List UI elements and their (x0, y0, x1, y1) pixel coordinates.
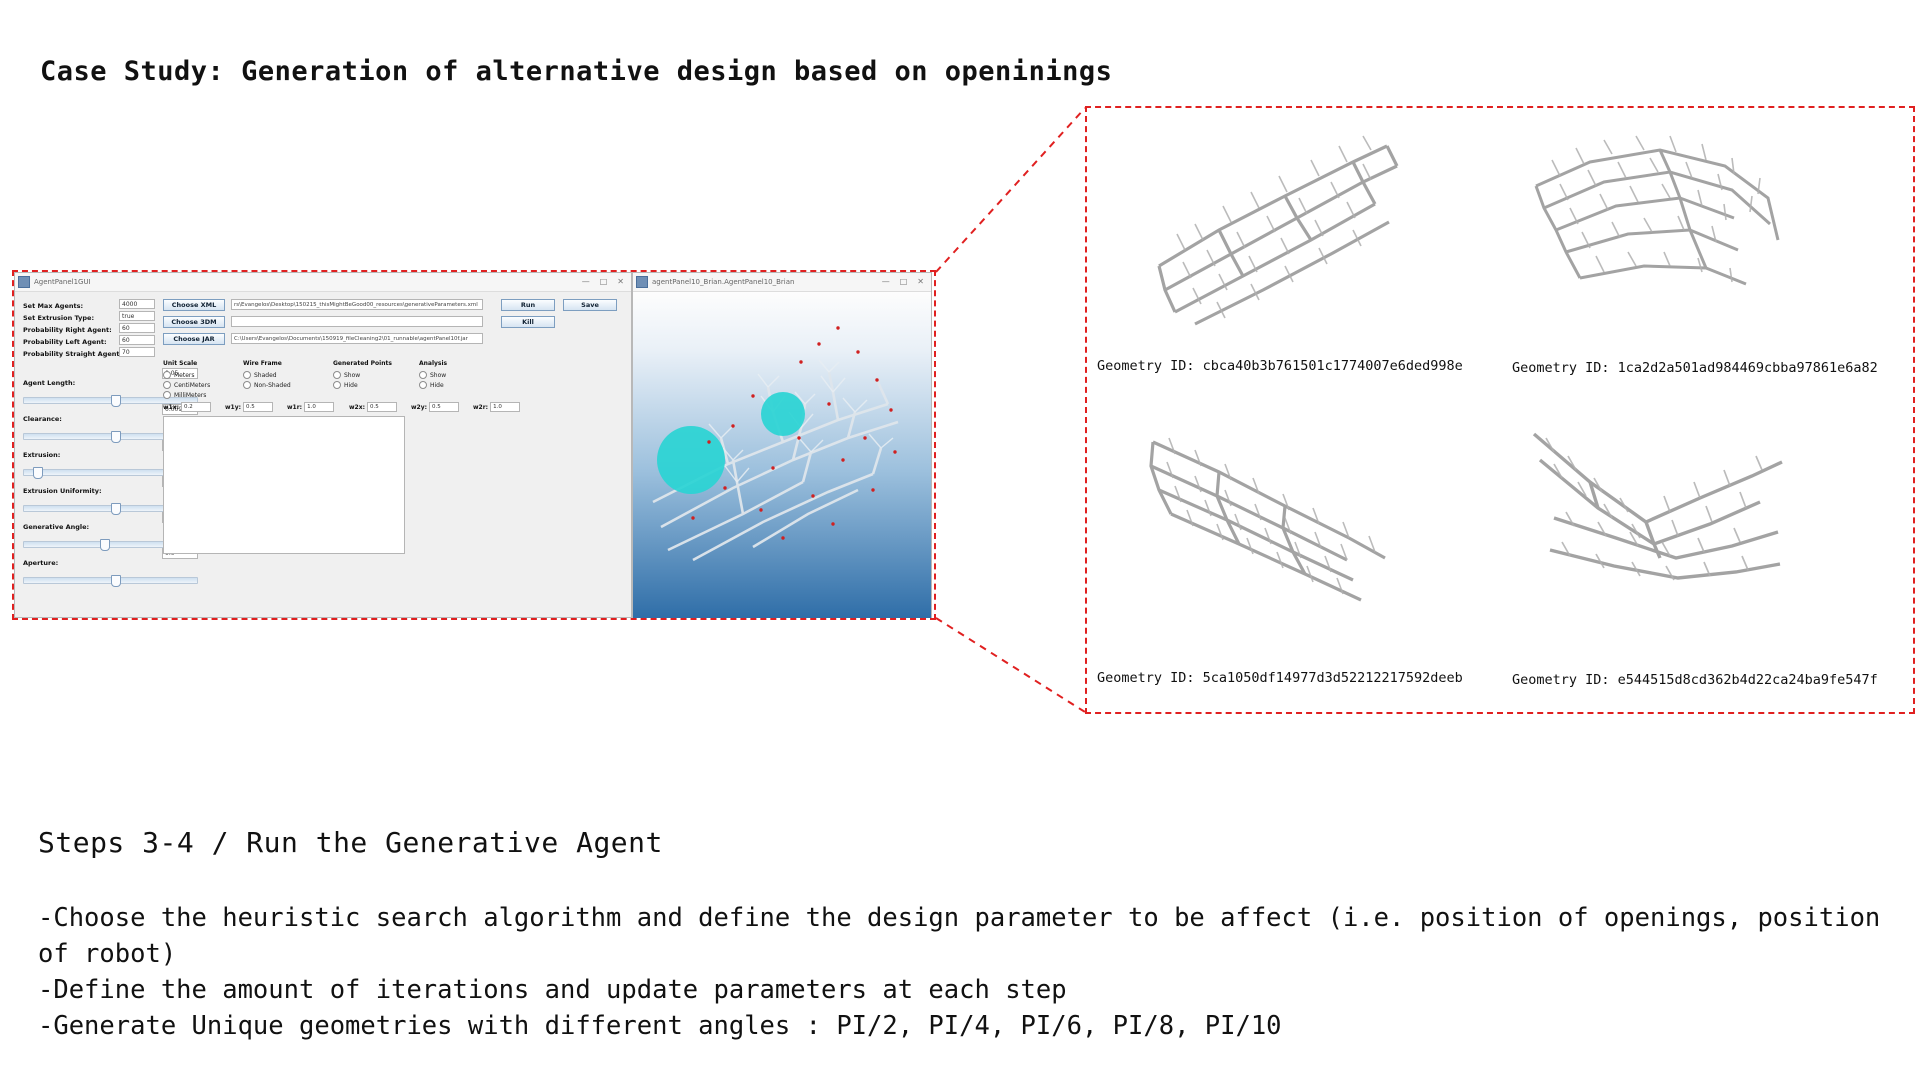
radio-label: Hide (430, 382, 444, 389)
geometry-render-4 (1520, 400, 1820, 630)
geometry-caption-3: Geometry ID: 5ca1050df14977d3d5221221759… (1097, 670, 1463, 686)
radio-label: Show (344, 372, 360, 379)
w1x-input[interactable]: 0.2 (181, 402, 211, 412)
radio-option-points-hide[interactable]: Hide (333, 380, 392, 390)
steps-line: -Define the amount of iterations and upd… (38, 972, 1898, 1008)
radio-group-wire-frame: Wire Frame Shaded Non-Shaded (243, 360, 291, 390)
geometry-render-1 (1135, 118, 1435, 338)
radio-icon[interactable] (333, 371, 341, 379)
slider-label: Extrusion: (23, 451, 60, 459)
radio-option-points-show[interactable]: Show (333, 370, 392, 380)
extrusion-type-input[interactable]: true (119, 311, 155, 321)
radio-label: Hide (344, 382, 358, 389)
w1r-label: w1r: (287, 404, 302, 411)
geometry-caption-2: Geometry ID: 1ca2d2a501ad984469cbba97861… (1512, 360, 1878, 376)
page-title: Case Study: Generation of alternative de… (40, 56, 1112, 87)
radio-icon[interactable] (243, 381, 251, 389)
radio-icon[interactable] (419, 381, 427, 389)
w2r-label: w2r: (473, 404, 488, 411)
param-label: Probability Left Agent: (23, 338, 107, 346)
w2x-field[interactable]: w2x:0.5 (349, 402, 397, 412)
radio-icon[interactable] (163, 371, 171, 379)
geometry-thumbnail-3[interactable] (1135, 410, 1435, 630)
minimize-icon[interactable]: — (582, 278, 590, 286)
probability-left-input[interactable]: 60 (119, 335, 155, 345)
w2r-field[interactable]: w2r:1.0 (473, 402, 520, 412)
app-icon (18, 276, 30, 288)
w1x-label: w1x: (163, 404, 179, 411)
radio-option-analysis-show[interactable]: Show (419, 370, 447, 380)
radio-option-analysis-hide[interactable]: Hide (419, 380, 447, 390)
radio-group-analysis: Analysis Show Hide (419, 360, 447, 390)
group-title: Unit Scale (163, 360, 210, 367)
slide-root: Case Study: Generation of alternative de… (0, 0, 1920, 1080)
radio-icon[interactable] (243, 371, 251, 379)
w2x-input[interactable]: 0.5 (367, 402, 397, 412)
geometry-caption-1: Geometry ID: cbca40b3b761501c1774007e6de… (1097, 358, 1463, 374)
slider-label: Extrusion Uniformity: (23, 487, 102, 495)
slider-label: Generative Angle: (23, 523, 89, 531)
w1y-label: w1y: (225, 404, 241, 411)
choose-xml-button[interactable]: Choose XML (163, 299, 225, 311)
param-label: Probability Straight Agent: (23, 350, 122, 358)
param-label: Set Extrusion Type: (23, 314, 94, 322)
geometry-thumbnail-1[interactable] (1135, 118, 1435, 338)
steps-line: -Generate Unique geometries with differe… (38, 1008, 1898, 1044)
radio-group-generated-points: Generated Points Show Hide (333, 360, 392, 390)
maximize-icon[interactable]: □ (600, 278, 608, 286)
geometry-render-3 (1135, 410, 1435, 630)
steps-heading: Steps 3-4 / Run the Generative Agent (38, 826, 663, 859)
agent-panel-window[interactable]: AgentPanel1GUI — □ ✕ Set Max Agents: Set… (14, 272, 632, 618)
gui-window-title: AgentPanel1GUI (34, 278, 91, 286)
radio-label: MilliMeters (174, 392, 206, 399)
steps-body: -Choose the heuristic search algorithm a… (38, 900, 1898, 1044)
group-title: Analysis (419, 360, 447, 367)
slider-label: Agent Length: (23, 379, 75, 387)
close-icon[interactable]: ✕ (617, 278, 624, 286)
w2y-input[interactable]: 0.5 (429, 402, 459, 412)
close-icon[interactable]: ✕ (917, 278, 924, 286)
dm3-path-input[interactable] (231, 316, 483, 327)
w1r-input[interactable]: 1.0 (304, 402, 334, 412)
radio-label: CentiMeters (174, 382, 210, 389)
slider-knob[interactable] (111, 575, 121, 587)
geometry-render-2 (1520, 120, 1820, 340)
w1y-input[interactable]: 0.5 (243, 402, 273, 412)
kill-button[interactable]: Kill (501, 316, 555, 328)
radio-label: Show (430, 372, 446, 379)
slider-track[interactable] (23, 577, 198, 584)
radio-option-non-shaded[interactable]: Non-Shaded (243, 380, 291, 390)
geometry-thumbnail-2[interactable] (1520, 120, 1820, 340)
group-title: Wire Frame (243, 360, 291, 367)
probability-straight-input[interactable]: 70 (119, 347, 155, 357)
steps-line: -Choose the heuristic search algorithm a… (38, 900, 1898, 972)
slider-label: Aperture: (23, 559, 58, 567)
w1r-field[interactable]: w1r:1.0 (287, 402, 334, 412)
jar-path-input[interactable]: C:\Users\Evangelos\Documents\150919_file… (231, 333, 483, 344)
minimize-icon[interactable]: — (882, 278, 890, 286)
w1x-field[interactable]: w1x:0.2 (163, 402, 211, 412)
choose-3dm-button[interactable]: Choose 3DM (163, 316, 225, 328)
radio-option-millimeters[interactable]: MilliMeters (163, 390, 210, 400)
slider-aperture[interactable]: Aperture: 0.0 (23, 550, 198, 584)
app-icon (636, 276, 648, 288)
w1y-field[interactable]: w1y:0.5 (225, 402, 273, 412)
w2r-input[interactable]: 1.0 (490, 402, 520, 412)
maximize-icon[interactable]: □ (900, 278, 908, 286)
run-button[interactable]: Run (501, 299, 555, 311)
geometry-caption-4: Geometry ID: e544515d8cd362b4d22ca24ba9f… (1512, 672, 1878, 688)
radio-label: Shaded (254, 372, 277, 379)
xml-path-input[interactable]: rs\Evangelos\Desktop\150215_thisMightBeG… (231, 299, 483, 310)
radio-option-centimeters[interactable]: CentiMeters (163, 380, 210, 390)
viewport-window-title: agentPanel10_Brian.AgentPanel10_Brian (652, 278, 794, 286)
radio-label: Non-Shaded (254, 382, 291, 389)
slider-label: Clearance: (23, 415, 62, 423)
param-label: Probability Right Agent: (23, 326, 112, 334)
w2y-field[interactable]: w2y:0.5 (411, 402, 459, 412)
console-output-area[interactable] (163, 416, 405, 554)
max-agents-input[interactable]: 4000 (119, 299, 155, 309)
radio-icon[interactable] (419, 371, 427, 379)
param-label: Set Max Agents: (23, 302, 83, 310)
geometry-thumbnail-4[interactable] (1520, 400, 1820, 630)
radio-icon[interactable] (333, 381, 341, 389)
w2y-label: w2y: (411, 404, 427, 411)
agent-geometry-render (633, 292, 931, 618)
group-title: Generated Points (333, 360, 392, 367)
choose-jar-button[interactable]: Choose JAR (163, 333, 225, 345)
radio-option-meters[interactable]: Meters (163, 370, 210, 380)
w2x-label: w2x: (349, 404, 365, 411)
viewport-canvas[interactable] (633, 292, 931, 618)
radio-label: Meters (174, 372, 195, 379)
save-button[interactable]: Save (563, 299, 617, 311)
radio-icon[interactable] (163, 381, 171, 389)
radio-option-shaded[interactable]: Shaded (243, 370, 291, 380)
viewport-titlebar[interactable]: agentPanel10_Brian.AgentPanel10_Brian — … (633, 273, 931, 292)
rhino-viewport-window[interactable]: agentPanel10_Brian.AgentPanel10_Brian — … (632, 272, 932, 618)
probability-right-input[interactable]: 60 (119, 323, 155, 333)
radio-icon[interactable] (163, 391, 171, 399)
gui-titlebar[interactable]: AgentPanel1GUI — □ ✕ (15, 273, 631, 292)
radio-group-unit-scale: Unit Scale Meters CentiMeters MilliMeter… (163, 360, 210, 400)
